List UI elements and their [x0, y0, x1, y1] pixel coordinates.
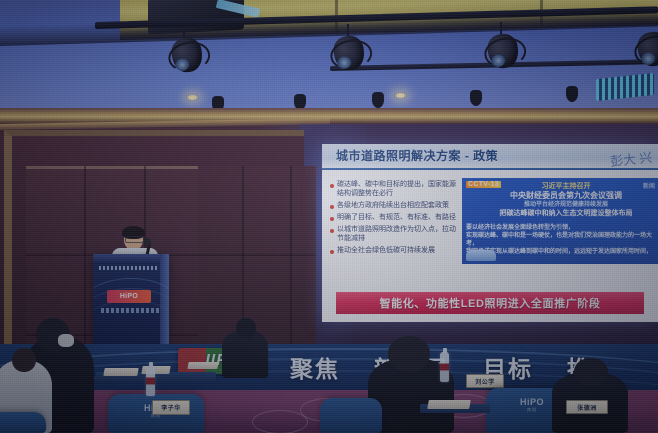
news-headline-3: 推动平台经济规范健康持续发展	[480, 201, 652, 209]
news-program-badge	[466, 250, 496, 261]
slide-red-banner-text: 智能化、功能性LED照明进入全面推广阶段	[380, 295, 601, 311]
par-light-2	[332, 34, 366, 72]
name-card-text: 张德洲	[577, 403, 597, 412]
slide-bullet-text: 各级地方政府陆续出台相应配套政策	[337, 201, 449, 210]
news-headline-1: 习近平主持召开	[480, 182, 652, 191]
projection-screen: 城市道路照明解决方案 - 政策 彭大 兴 碳达峰、碳中和目标的提出，国家能源结构…	[322, 144, 658, 322]
news-body-line: 实现碳达峰、碳中和是一场硬仗，也是对我们党治国理政能力的一场大考，	[466, 232, 656, 248]
desk-paper	[187, 362, 218, 369]
podium-event-title-line	[99, 266, 157, 270]
speaker-glasses	[125, 236, 144, 243]
podium-logo: HiPO	[107, 290, 151, 303]
slide-bullet-item: 以城市道路照明改造作为切入点，拉动节能减排	[330, 225, 462, 243]
slide-bullet-text: 推动全社会绿色低碳可持续发展	[337, 246, 435, 255]
downlight-2	[394, 92, 407, 99]
slide-red-banner: 智能化、功能性LED照明进入全面推广阶段	[336, 292, 644, 314]
slide-bullet-item: 碳达峰、碳中和目标的提出，国家能源结构调整势在必行	[330, 180, 462, 198]
slide-bullet-list: 碳达峰、碳中和目标的提出，国家能源结构调整势在必行 各级地方政府陆续出台相应配套…	[330, 180, 462, 258]
slide-bullet-item: 推动全社会绿色低碳可持续发展	[330, 246, 462, 255]
podium-subtitle-line	[101, 308, 159, 313]
audience-chair	[320, 398, 382, 433]
bullet-dot-icon	[330, 184, 334, 188]
microphone-icon	[144, 238, 151, 246]
spotlight-small-3	[372, 92, 384, 108]
bullet-dot-icon	[330, 229, 334, 233]
face-mask	[58, 334, 74, 347]
name-card: 李子华	[152, 400, 190, 415]
news-headline-block: 习近平主持召开 中央财经委员会第九次会议强调 推动平台经济规范健康持续发展 把碳…	[480, 182, 652, 218]
water-bottle	[146, 366, 155, 396]
audience-chair	[0, 412, 46, 433]
slide-news-screenshot: CCTV-13 新闻 习近平主持召开 中央财经委员会第九次会议强调 推动平台经济…	[462, 178, 658, 264]
bullet-dot-icon	[330, 217, 334, 221]
downlight-1	[186, 94, 199, 101]
news-headline-4: 把碳达峰碳中和纳入生态文明建设整体布局	[480, 209, 652, 218]
news-headline-2: 中央财经委员会第九次会议强调	[480, 191, 652, 201]
name-card: 刘公学	[466, 374, 504, 388]
par-light-1	[170, 36, 204, 74]
slide-bullet-text: 碳达峰、碳中和目标的提出，国家能源结构调整势在必行	[337, 180, 462, 198]
audience-head	[236, 318, 256, 338]
slide-bullet-text: 明确了目标、有规范、有标准、有路径	[337, 213, 456, 222]
podium-top-surface	[93, 254, 169, 262]
bullet-dot-icon	[330, 205, 334, 209]
par-light-3	[486, 32, 520, 70]
podium: HiPO	[93, 254, 169, 348]
desk-paper	[427, 400, 471, 409]
name-card-text: 李子华	[161, 403, 181, 412]
podium-logo-text: HiPO	[120, 293, 138, 300]
chair-logo-text: HiPO	[520, 397, 544, 407]
banner-word-1: 聚焦	[290, 350, 340, 384]
desk-paper	[103, 368, 138, 376]
ceiling	[0, 0, 658, 118]
slide-body: 碳达峰、碳中和目标的提出，国家能源结构调整势在必行 各级地方政府陆续出台相应配套…	[322, 170, 658, 322]
audience-head	[12, 348, 36, 372]
audience-head	[388, 336, 430, 372]
slide-title: 城市道路照明解决方案 - 政策	[336, 147, 498, 164]
audience-head	[574, 358, 608, 386]
bullet-dot-icon	[330, 250, 334, 254]
carpet-pattern	[252, 410, 308, 433]
name-card-text: 刘公学	[475, 377, 495, 386]
conference-hall-photo: 城市道路照明解决方案 - 政策 彭大 兴 碳达峰、碳中和目标的提出，国家能源结构…	[0, 0, 658, 433]
name-card: 张德洲	[566, 400, 608, 414]
spotlight-small-5	[566, 86, 578, 102]
news-body-line: 要以经济社会发展全面绿色转型为引领，	[466, 224, 656, 232]
spotlight-small-4	[470, 90, 482, 106]
slide-bullet-item: 各级地方政府陆续出台相应配套政策	[330, 201, 462, 210]
water-bottle	[440, 352, 449, 382]
slide-bullet-item: 明确了目标、有规范、有标准、有路径	[330, 213, 462, 222]
slide-bullet-text: 以城市道路照明改造作为切入点，拉动节能减排	[337, 225, 462, 243]
